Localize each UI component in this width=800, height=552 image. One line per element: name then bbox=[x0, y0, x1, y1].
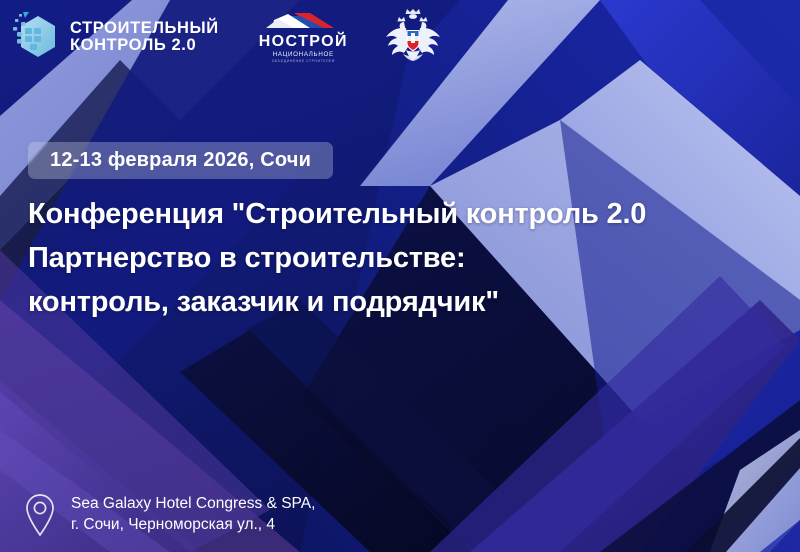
event-date-badge: 12-13 февраля 2026, Сочи bbox=[28, 142, 333, 179]
logo-nostroy-subtitle-2: ОБЪЕДИНЕНИЕ СТРОИТЕЛЕЙ bbox=[272, 60, 335, 64]
venue-address: Sea Galaxy Hotel Congress & SPA, г. Сочи… bbox=[71, 494, 315, 536]
hexagon-pixel-logo-icon bbox=[8, 10, 62, 64]
logo-nostroy-subtitle-1: НАЦИОНАЛЬНОЕ bbox=[273, 52, 334, 58]
logo-stroitelny-kontrol-wordmark: СТРОИТЕЛЬНЫЙ КОНТРОЛЬ 2.0 bbox=[70, 20, 219, 55]
event-title: Конференция "Строительный контроль 2.0 П… bbox=[28, 192, 646, 324]
venue-info: Sea Galaxy Hotel Congress & SPA, г. Сочи… bbox=[22, 492, 315, 538]
logo-nostroy[interactable]: НОСТРОЙ НАЦИОНАЛЬНОЕ ОБЪЕДИНЕНИЕ СТРОИТЕ… bbox=[259, 11, 348, 64]
logo-line-1: СТРОИТЕЛЬНЫЙ bbox=[70, 20, 219, 37]
map-pin-icon bbox=[22, 492, 58, 538]
venue-line-2: г. Сочи, Черноморская ул., 4 bbox=[71, 515, 315, 536]
promo-banner: СТРОИТЕЛЬНЫЙ КОНТРОЛЬ 2.0 НОСТРОЙ НАЦИОН… bbox=[0, 0, 800, 552]
logo-line-2: КОНТРОЛЬ 2.0 bbox=[70, 37, 219, 54]
double-headed-eagle-emblem-icon[interactable] bbox=[382, 6, 444, 68]
nostroy-roof-icon bbox=[264, 11, 342, 33]
title-line-3: контроль, заказчик и подрядчик" bbox=[28, 280, 646, 324]
title-line-1: Конференция "Строительный контроль 2.0 bbox=[28, 192, 646, 236]
logo-nostroy-wordmark: НОСТРОЙ bbox=[259, 34, 348, 50]
banner-header: СТРОИТЕЛЬНЫЙ КОНТРОЛЬ 2.0 НОСТРОЙ НАЦИОН… bbox=[0, 0, 800, 74]
title-line-2: Партнерство в строительстве: bbox=[28, 236, 646, 280]
venue-line-1: Sea Galaxy Hotel Congress & SPA, bbox=[71, 494, 315, 515]
logo-stroitelny-kontrol[interactable]: СТРОИТЕЛЬНЫЙ КОНТРОЛЬ 2.0 bbox=[8, 10, 219, 64]
event-date-text: 12-13 февраля 2026, Сочи bbox=[50, 149, 311, 172]
